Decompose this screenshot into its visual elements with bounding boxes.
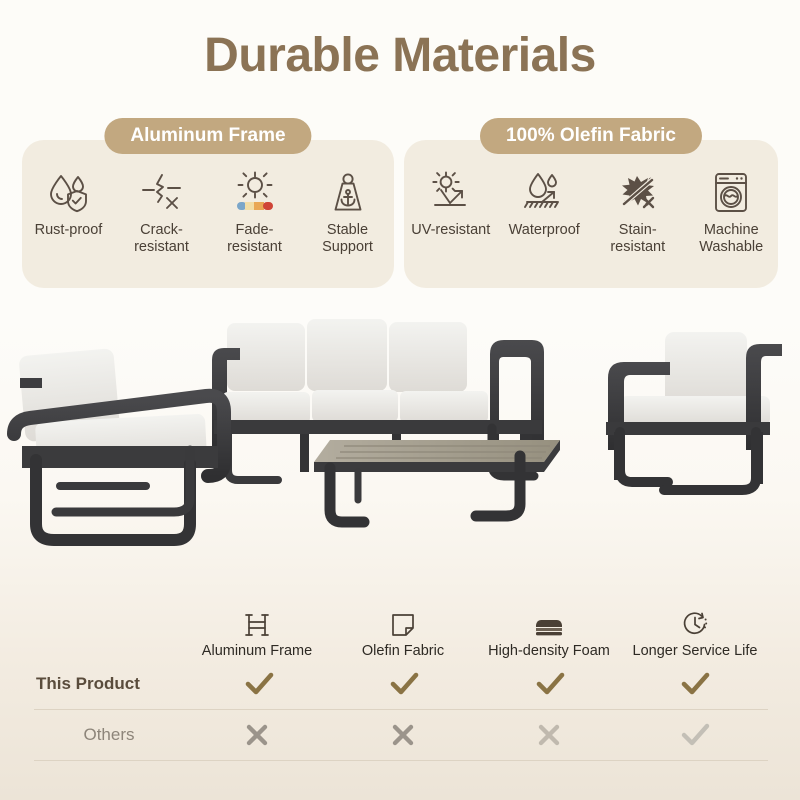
feature-panel-aluminum: Aluminum Frame Rust-proof xyxy=(22,140,394,288)
cross-icon xyxy=(534,721,564,749)
feature-label: Fade- resistant xyxy=(227,222,282,255)
sun-reflect-icon xyxy=(428,170,474,216)
comparison-column-olefin-fabric: Olefin Fabric xyxy=(330,604,476,659)
mark-cell xyxy=(623,670,769,698)
infographic-page: Durable Materials Aluminum Frame xyxy=(0,0,800,800)
comparison-column-aluminum-frame: Aluminum Frame xyxy=(184,604,330,659)
feature-crack-resistant: Crack- resistant xyxy=(119,170,205,255)
check-icon xyxy=(679,670,711,698)
clock-arrow-icon xyxy=(681,604,709,638)
washing-machine-icon xyxy=(709,170,753,216)
feature-machine-washable: Machine Washable xyxy=(688,170,774,255)
fabric-sheet-icon xyxy=(390,604,416,638)
column-label: Olefin Fabric xyxy=(362,643,444,659)
feature-stain-resistant: Stain- resistant xyxy=(595,170,681,255)
mark-cell xyxy=(184,721,330,749)
feature-label: Machine Washable xyxy=(699,222,763,255)
feature-waterproof: Waterproof xyxy=(501,170,587,239)
comparison-table: Aluminum Frame Olefin Fabric xyxy=(34,604,768,761)
i-beam-icon xyxy=(243,604,271,638)
feature-uv-resistant: UV-resistant xyxy=(408,170,494,239)
comparison-column-longer-service-life: Longer Service Life xyxy=(622,604,768,659)
product-furniture-image xyxy=(0,300,800,600)
feature-list-olefin: UV-resistant xyxy=(404,170,778,255)
feature-list-aluminum: Rust-proof Crack- resistant xyxy=(22,170,394,255)
check-icon xyxy=(534,670,566,698)
mark-cell xyxy=(186,670,332,698)
droplet-shield-icon xyxy=(47,170,91,216)
feature-panel-olefin: 100% Olefin Fabric xyxy=(404,140,778,288)
feature-label: Crack- resistant xyxy=(134,222,189,255)
mark-cell xyxy=(476,721,622,749)
feature-label: Stain- resistant xyxy=(610,222,665,255)
cross-icon xyxy=(242,721,272,749)
check-icon xyxy=(679,721,711,749)
column-label: High-density Foam xyxy=(488,643,610,659)
check-icon xyxy=(243,670,275,698)
check-icon xyxy=(388,670,420,698)
stain-splatter-icon xyxy=(615,170,661,216)
panel-badge-olefin: 100% Olefin Fabric xyxy=(480,118,702,154)
mark-cell xyxy=(332,670,478,698)
foam-layers-icon xyxy=(533,604,565,638)
weight-anchor-icon xyxy=(326,170,370,216)
coffee-table xyxy=(314,440,560,522)
feature-fade-resistant: Fade- resistant xyxy=(212,170,298,255)
comparison-header-row: Aluminum Frame Olefin Fabric xyxy=(34,604,768,659)
feature-label: Rust-proof xyxy=(35,222,103,239)
feature-label: Waterproof xyxy=(509,222,580,239)
armchair-right xyxy=(606,332,782,490)
armchair-left xyxy=(14,348,224,540)
column-label: Aluminum Frame xyxy=(202,643,312,659)
comparison-column-high-density-foam: High-density Foam xyxy=(476,604,622,659)
page-title: Durable Materials xyxy=(0,28,800,83)
mark-cell xyxy=(477,670,623,698)
table-row: Others xyxy=(34,710,768,761)
row-label-this-product: This Product xyxy=(34,674,186,694)
water-repel-icon xyxy=(521,170,567,216)
column-label: Longer Service Life xyxy=(633,643,758,659)
feature-label: UV-resistant xyxy=(411,222,490,239)
cross-icon xyxy=(388,721,418,749)
panel-badge-aluminum: Aluminum Frame xyxy=(104,118,311,154)
table-row: This Product xyxy=(34,659,768,710)
sun-color-bar-icon xyxy=(232,170,278,216)
feature-rust-proof: Rust-proof xyxy=(26,170,112,239)
row-label-others: Others xyxy=(34,725,184,745)
crack-break-icon xyxy=(140,170,184,216)
header-spacer xyxy=(34,604,184,659)
mark-cell xyxy=(622,721,768,749)
mark-cell xyxy=(330,721,476,749)
feature-label: Stable Support xyxy=(322,222,373,255)
feature-stable-support: Stable Support xyxy=(305,170,391,255)
